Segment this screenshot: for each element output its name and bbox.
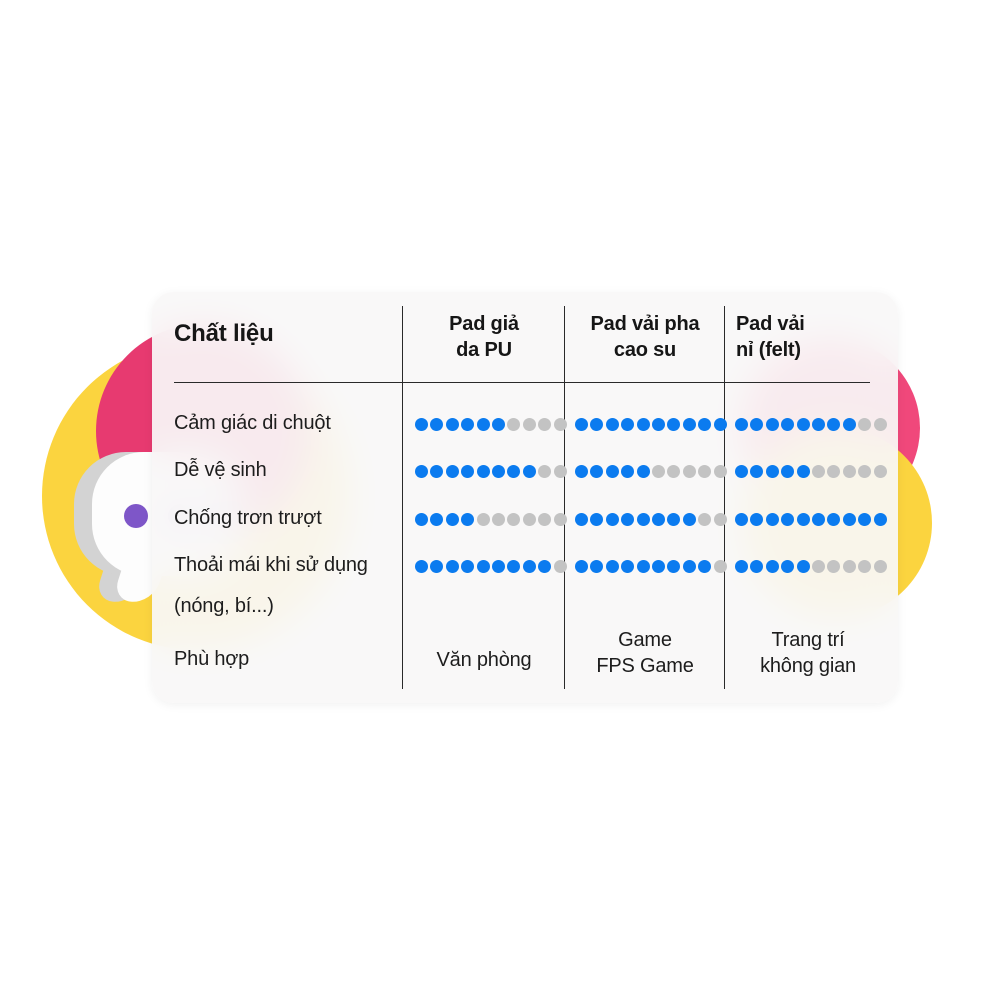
rating-dot-filled bbox=[683, 513, 696, 526]
rating-dot-filled bbox=[606, 560, 619, 573]
table-summary-value-1-line1: Văn phòng bbox=[404, 648, 564, 674]
rating-dot-empty bbox=[683, 465, 696, 478]
rating-dot-filled bbox=[812, 513, 825, 526]
table-header-material: Chất liệu bbox=[174, 320, 394, 348]
rating-dots-row1-col1 bbox=[575, 463, 727, 479]
rating-dot-filled bbox=[430, 513, 443, 526]
rating-dot-filled bbox=[714, 418, 727, 431]
rating-dot-filled bbox=[477, 465, 490, 478]
table-header-column-2-line2: cao su bbox=[566, 338, 724, 364]
rating-dot-empty bbox=[554, 560, 567, 573]
rating-dot-filled bbox=[667, 513, 680, 526]
table-row-label-3-secondary: (nóng, bí...) bbox=[174, 593, 406, 619]
rating-dot-filled bbox=[766, 418, 779, 431]
rating-dot-filled bbox=[637, 418, 650, 431]
rating-dot-filled bbox=[637, 465, 650, 478]
rating-dot-empty bbox=[523, 513, 536, 526]
rating-dot-filled bbox=[698, 418, 711, 431]
rating-dot-filled bbox=[652, 513, 665, 526]
rating-dot-filled bbox=[507, 465, 520, 478]
rating-dot-filled bbox=[781, 418, 794, 431]
rating-dot-filled bbox=[575, 560, 588, 573]
rating-dot-filled bbox=[750, 560, 763, 573]
rating-dot-filled bbox=[766, 465, 779, 478]
rating-dot-filled bbox=[766, 513, 779, 526]
table-summary-value-1: Văn phòng bbox=[404, 648, 564, 674]
rating-dot-filled bbox=[575, 418, 588, 431]
table-row-label-2: Chống trơn trượt bbox=[174, 505, 406, 531]
rating-dots-row0-col1 bbox=[575, 416, 727, 432]
bubble-dot-1 bbox=[124, 504, 148, 528]
rating-dot-filled bbox=[735, 513, 748, 526]
table-header-column-3-line2: nỉ (felt) bbox=[736, 338, 886, 364]
rating-dots-row3-col0 bbox=[415, 558, 567, 574]
rating-dot-filled bbox=[461, 465, 474, 478]
screenshot-canvas: Chất liệu Pad giả da PU Pad vải pha cao … bbox=[0, 0, 1000, 1000]
rating-dot-filled bbox=[652, 418, 665, 431]
rating-dot-filled bbox=[415, 418, 428, 431]
rating-dot-filled bbox=[735, 560, 748, 573]
rating-dot-empty bbox=[843, 465, 856, 478]
rating-dot-filled bbox=[637, 513, 650, 526]
rating-dot-empty bbox=[827, 465, 840, 478]
rating-dot-filled bbox=[621, 418, 634, 431]
table-header-column-1: Pad giả da PU bbox=[404, 312, 564, 363]
rating-dot-empty bbox=[477, 513, 490, 526]
rating-dot-filled bbox=[492, 418, 505, 431]
table-header-column-1-line2: da PU bbox=[404, 338, 564, 364]
rating-dot-empty bbox=[827, 560, 840, 573]
rating-dot-filled bbox=[430, 418, 443, 431]
rating-dot-filled bbox=[590, 513, 603, 526]
rating-dot-filled bbox=[621, 560, 634, 573]
rating-dot-empty bbox=[858, 418, 871, 431]
rating-dot-empty bbox=[538, 465, 551, 478]
rating-dot-filled bbox=[797, 418, 810, 431]
table-header-column-2-line1: Pad vải pha bbox=[566, 312, 724, 338]
table-summary-value-2: Game FPS Game bbox=[566, 628, 724, 679]
rating-dot-filled bbox=[492, 465, 505, 478]
rating-dots-row3-col1 bbox=[575, 558, 727, 574]
rating-dot-filled bbox=[461, 560, 474, 573]
rating-dot-empty bbox=[714, 465, 727, 478]
rating-dot-filled bbox=[797, 465, 810, 478]
rating-dot-filled bbox=[590, 418, 603, 431]
rating-dot-filled bbox=[575, 465, 588, 478]
rating-dot-filled bbox=[590, 465, 603, 478]
comparison-table: Chất liệu Pad giả da PU Pad vải pha cao … bbox=[152, 292, 898, 703]
table-row-label-3: Thoải mái khi sử dụng bbox=[174, 552, 406, 578]
rating-dot-empty bbox=[858, 560, 871, 573]
table-row-label-0: Cảm giác di chuột bbox=[174, 410, 406, 436]
rating-dots-row3-col2 bbox=[735, 558, 887, 574]
rating-dots-row2-col2 bbox=[735, 511, 887, 527]
rating-dot-filled bbox=[415, 465, 428, 478]
rating-dot-empty bbox=[874, 560, 887, 573]
rating-dot-filled bbox=[507, 560, 520, 573]
table-header-column-3-line1: Pad vải bbox=[736, 312, 886, 338]
rating-dot-filled bbox=[446, 513, 459, 526]
rating-dot-filled bbox=[606, 465, 619, 478]
rating-dot-empty bbox=[874, 465, 887, 478]
rating-dot-filled bbox=[477, 560, 490, 573]
rating-dot-empty bbox=[538, 418, 551, 431]
rating-dot-empty bbox=[554, 465, 567, 478]
rating-dot-filled bbox=[523, 465, 536, 478]
table-row-label-1: Dễ vệ sinh bbox=[174, 457, 406, 483]
rating-dot-filled bbox=[446, 560, 459, 573]
comparison-table-card: Chất liệu Pad giả da PU Pad vải pha cao … bbox=[152, 292, 898, 703]
rating-dot-empty bbox=[554, 513, 567, 526]
rating-dot-empty bbox=[812, 560, 825, 573]
rating-dots-row2-col1 bbox=[575, 511, 727, 527]
rating-dots-row0-col2 bbox=[735, 416, 887, 432]
table-summary-value-2-line1: Game bbox=[566, 628, 724, 654]
rating-dot-filled bbox=[621, 465, 634, 478]
rating-dot-filled bbox=[797, 513, 810, 526]
rating-dot-filled bbox=[446, 465, 459, 478]
rating-dot-empty bbox=[843, 560, 856, 573]
rating-dot-filled bbox=[683, 560, 696, 573]
rating-dot-filled bbox=[590, 560, 603, 573]
rating-dot-filled bbox=[735, 418, 748, 431]
rating-dot-filled bbox=[781, 465, 794, 478]
rating-dot-empty bbox=[507, 418, 520, 431]
table-summary-value-3-line1: Trang trí bbox=[726, 628, 890, 654]
speech-bubble-gray-tail bbox=[94, 546, 152, 604]
rating-dot-filled bbox=[797, 560, 810, 573]
rating-dot-filled bbox=[874, 513, 887, 526]
rating-dot-empty bbox=[667, 465, 680, 478]
rating-dot-filled bbox=[477, 418, 490, 431]
rating-dot-filled bbox=[667, 418, 680, 431]
table-summary-value-3: Trang trí không gian bbox=[726, 628, 890, 679]
rating-dot-empty bbox=[492, 513, 505, 526]
rating-dot-filled bbox=[843, 418, 856, 431]
rating-dot-empty bbox=[538, 513, 551, 526]
table-summary-label: Phù hợp bbox=[174, 648, 394, 671]
rating-dot-empty bbox=[554, 418, 567, 431]
rating-dot-filled bbox=[781, 560, 794, 573]
table-summary-value-2-line2: FPS Game bbox=[566, 654, 724, 680]
rating-dot-filled bbox=[415, 560, 428, 573]
rating-dot-filled bbox=[858, 513, 871, 526]
rating-dot-empty bbox=[714, 513, 727, 526]
rating-dot-filled bbox=[415, 513, 428, 526]
rating-dot-filled bbox=[492, 560, 505, 573]
rating-dots-row0-col0 bbox=[415, 416, 567, 432]
rating-dot-filled bbox=[766, 560, 779, 573]
rating-dot-filled bbox=[698, 560, 711, 573]
rating-dot-filled bbox=[750, 513, 763, 526]
rating-dots-row2-col0 bbox=[415, 511, 567, 527]
rating-dot-filled bbox=[606, 513, 619, 526]
rating-dot-filled bbox=[735, 465, 748, 478]
rating-dot-empty bbox=[812, 465, 825, 478]
table-header-column-3: Pad vải nỉ (felt) bbox=[726, 312, 886, 363]
rating-dot-filled bbox=[523, 560, 536, 573]
rating-dot-filled bbox=[652, 560, 665, 573]
rating-dot-empty bbox=[652, 465, 665, 478]
rating-dot-empty bbox=[874, 418, 887, 431]
rating-dot-filled bbox=[843, 513, 856, 526]
rating-dot-empty bbox=[523, 418, 536, 431]
rating-dot-filled bbox=[621, 513, 634, 526]
rating-dot-filled bbox=[446, 418, 459, 431]
rating-dot-empty bbox=[858, 465, 871, 478]
table-summary-value-3-line2: không gian bbox=[726, 654, 890, 680]
rating-dot-empty bbox=[698, 465, 711, 478]
rating-dot-filled bbox=[827, 418, 840, 431]
rating-dot-filled bbox=[575, 513, 588, 526]
rating-dot-filled bbox=[750, 418, 763, 431]
rating-dot-filled bbox=[430, 560, 443, 573]
rating-dot-filled bbox=[606, 418, 619, 431]
rating-dot-empty bbox=[714, 560, 727, 573]
rating-dot-filled bbox=[683, 418, 696, 431]
rating-dots-row1-col0 bbox=[415, 463, 567, 479]
rating-dot-filled bbox=[538, 560, 551, 573]
rating-dot-empty bbox=[698, 513, 711, 526]
table-header-column-2: Pad vải pha cao su bbox=[566, 312, 724, 363]
rating-dot-filled bbox=[461, 513, 474, 526]
rating-dots-row1-col2 bbox=[735, 463, 887, 479]
table-header-column-1-line1: Pad giả bbox=[404, 312, 564, 338]
rating-dot-filled bbox=[667, 560, 680, 573]
rating-dot-filled bbox=[750, 465, 763, 478]
rating-dot-filled bbox=[812, 418, 825, 431]
rating-dot-filled bbox=[827, 513, 840, 526]
rating-dot-filled bbox=[637, 560, 650, 573]
rating-dot-filled bbox=[781, 513, 794, 526]
rating-dot-filled bbox=[430, 465, 443, 478]
rating-dot-empty bbox=[507, 513, 520, 526]
rating-dot-filled bbox=[461, 418, 474, 431]
